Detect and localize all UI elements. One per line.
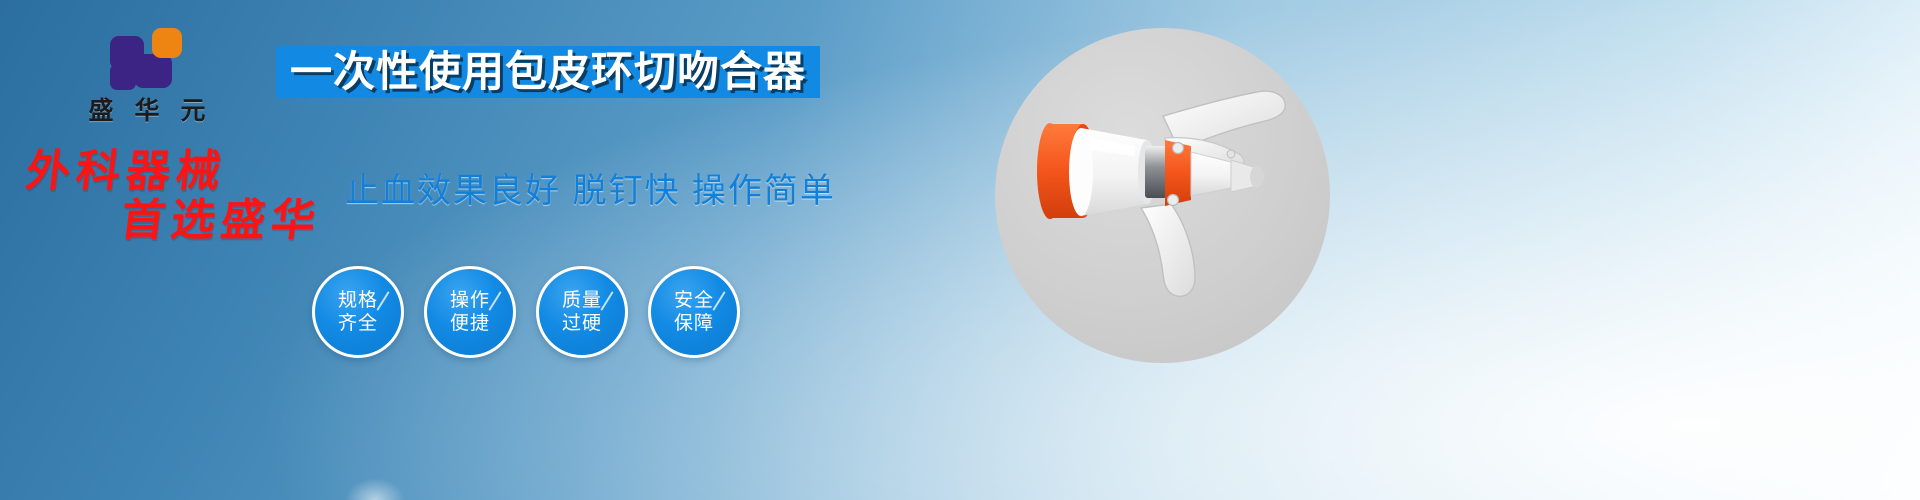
product-photo [995, 28, 1330, 363]
slogan-line-1: 外科器械 [23, 150, 349, 195]
feature-label-top: 操作 [450, 289, 490, 312]
feature-label-top: 安全 [674, 289, 714, 312]
feature-circle[interactable]: 质量 过硬 [536, 266, 628, 358]
feature-label-top: 规格 [338, 289, 378, 312]
feature-circle[interactable]: 安全 保障 [648, 266, 740, 358]
feature-circle[interactable]: 规格 齐全 [312, 266, 404, 358]
feature-label-bottom: 齐全 [338, 312, 378, 335]
shenghuayuan-blocks-logo-icon [110, 28, 184, 94]
brand-logo: 盛 华 元 [62, 28, 232, 124]
slash-icon [712, 291, 725, 311]
slash-icon [376, 291, 389, 311]
headline-bar: 一次性使用包皮环切吻合器 [276, 46, 820, 98]
feature-circle-list: 规格 齐全 操作 便捷 质量 过硬 安全 保障 [312, 266, 740, 358]
brand-name: 盛 华 元 [62, 98, 232, 124]
slogan-line-2: 首选盛华 [118, 199, 349, 244]
feature-label-bottom: 保障 [674, 312, 714, 335]
slash-icon [488, 291, 501, 311]
calligraphy-slogan: 外科器械 首选盛华 [16, 150, 346, 260]
logo-block-corner [110, 64, 136, 90]
circumcision-stapler-illustration [995, 28, 1330, 363]
subtitle: 止血效果良好 脱钉快 操作简单 [345, 163, 836, 212]
feature-label-bottom: 过硬 [562, 312, 602, 335]
background-artifact [345, 478, 405, 500]
page-title: 一次性使用包皮环切吻合器 [290, 46, 806, 98]
feature-label-bottom: 便捷 [450, 312, 490, 335]
promo-banner: 盛 华 元 外科器械 首选盛华 一次性使用包皮环切吻合器 止血效果良好 脱钉快 … [0, 0, 1920, 500]
slash-icon [600, 291, 613, 311]
feature-circle[interactable]: 操作 便捷 [424, 266, 516, 358]
logo-block-bottom [134, 54, 172, 88]
feature-label-top: 质量 [562, 289, 602, 312]
logo-block-orange [152, 28, 182, 58]
